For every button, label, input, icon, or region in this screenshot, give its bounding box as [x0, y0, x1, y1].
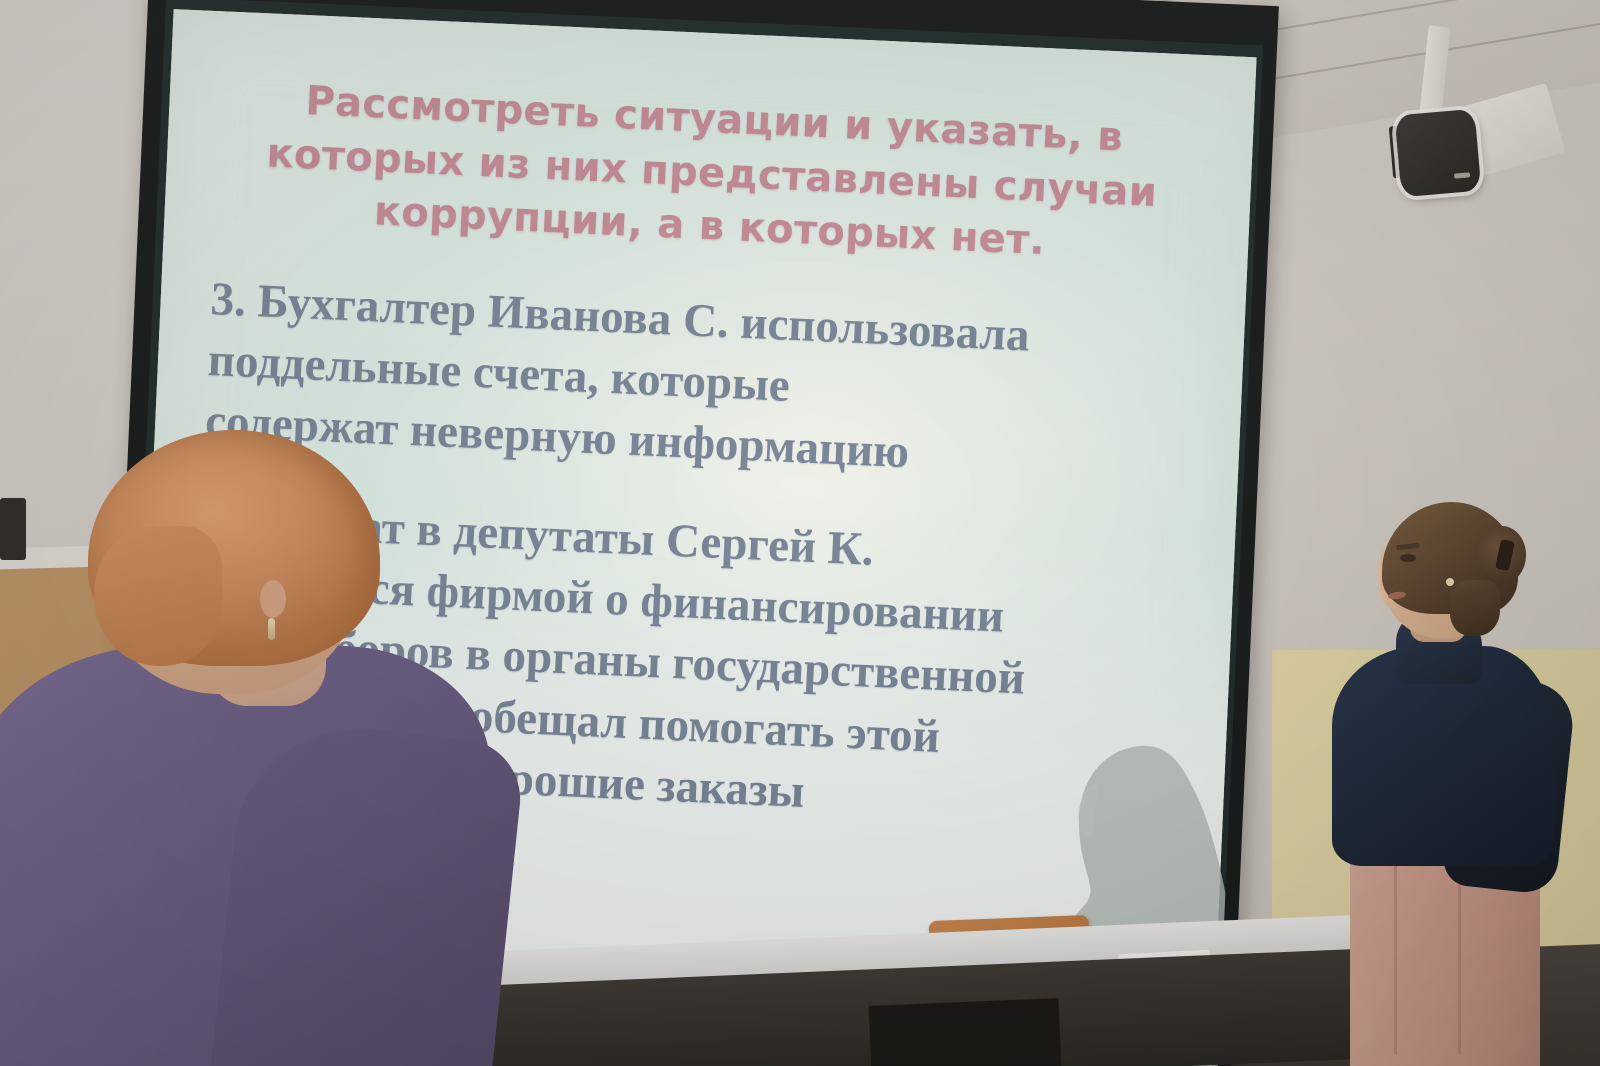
desk-cavity: [869, 998, 1062, 1066]
wall-speaker: [1386, 78, 1536, 228]
teacher-earring: [268, 618, 275, 640]
teacher-foreground: [0, 430, 520, 1066]
speaker-body: [1395, 109, 1482, 198]
student-right: [1330, 500, 1600, 1066]
slide-title: Рассмотреть ситуации и указать, в которы…: [204, 71, 1220, 277]
teacher-ear: [260, 580, 286, 618]
classroom-photo-scene: Рассмотреть ситуации и указать, в которы…: [0, 0, 1600, 1066]
student-earring: [1446, 578, 1454, 586]
teacher-hair: [88, 430, 380, 666]
slide-title-line: а в которых нет.: [656, 201, 1046, 264]
student-eye: [1400, 554, 1416, 562]
student-nape-hair: [1450, 580, 1500, 636]
